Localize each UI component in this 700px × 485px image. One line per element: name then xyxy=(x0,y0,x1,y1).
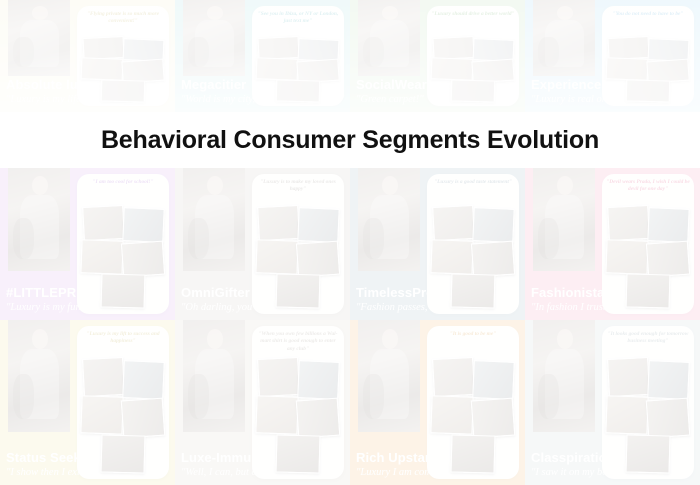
collage-photo xyxy=(257,357,300,397)
segment-panel[interactable]: #LITTLEPRINCE"Luxury is my fun""I am too… xyxy=(0,168,175,320)
segment-quote: "Luxury should drive a better world" xyxy=(431,11,515,18)
portrait-shape xyxy=(13,374,34,419)
portrait-shape xyxy=(557,329,573,349)
collage-photo xyxy=(80,396,124,435)
collage-photo xyxy=(276,79,321,102)
segment-panel[interactable]: Status Seeker"I show then I exist""Luxur… xyxy=(0,320,175,485)
segments-poster: Absolute luxurer"Luxury is my life""Flyi… xyxy=(0,0,700,485)
collage-photo-group xyxy=(81,356,165,475)
segment-quote: "See you in Ibiza, or NY or London, just… xyxy=(256,11,340,26)
collage-photo xyxy=(451,273,496,308)
segment-portrait-photo xyxy=(358,0,420,76)
collage-photo-group xyxy=(431,356,515,475)
segment-collage-card[interactable]: "Devil wears Prada, I wish I could be de… xyxy=(602,174,694,314)
collage-photo xyxy=(296,397,341,438)
portrait-shape xyxy=(32,6,48,20)
portrait-shape xyxy=(382,329,398,349)
portrait-shape xyxy=(13,37,34,67)
collage-photo xyxy=(256,58,299,81)
collage-photo xyxy=(605,396,649,435)
segment-collage-card[interactable]: "Luxury should drive a better world" xyxy=(427,6,519,106)
segment-panel[interactable]: Experiencer"Luxury is real only when sha… xyxy=(525,0,700,112)
collage-photo xyxy=(121,397,166,438)
segment-portrait-photo xyxy=(8,320,70,432)
portrait-shape xyxy=(363,218,384,259)
segment-quote: "When you own few billions a Wal-mart sh… xyxy=(256,331,340,353)
segment-portrait-photo xyxy=(533,168,595,271)
collage-photo xyxy=(101,434,146,473)
collage-photo xyxy=(451,79,496,102)
collage-photo xyxy=(626,273,671,308)
collage-photo xyxy=(276,273,321,308)
collage-photo-group xyxy=(256,204,340,310)
segment-collage-card[interactable]: "Luxury is my lift to success and happin… xyxy=(77,326,169,479)
collage-photo xyxy=(122,360,164,399)
collage-photo xyxy=(122,207,164,243)
collage-photo xyxy=(451,434,496,473)
portrait-shape xyxy=(538,218,559,259)
segment-portrait-photo xyxy=(8,168,70,271)
collage-photo xyxy=(82,357,125,397)
collage-photo xyxy=(81,58,124,81)
segment-portrait-photo xyxy=(183,320,245,432)
segment-portrait-photo xyxy=(533,0,595,76)
portrait-shape xyxy=(363,37,384,67)
collage-photo xyxy=(646,397,691,438)
segment-quote: "Devil wears Prada, I wish I could be de… xyxy=(606,179,690,194)
collage-photo xyxy=(255,396,299,435)
portrait-shape xyxy=(207,329,223,349)
collage-photo xyxy=(80,239,123,274)
segment-panel[interactable]: Megacitier"World is my city, the city is… xyxy=(175,0,350,112)
portrait-shape xyxy=(207,176,223,195)
segment-portrait-photo xyxy=(183,0,245,76)
collage-photo xyxy=(605,239,648,274)
collage-photo xyxy=(473,38,515,62)
segment-quote: "You do not need to have to be" xyxy=(606,11,690,18)
collage-photo xyxy=(606,58,649,81)
segment-collage-card[interactable]: "It looks good enough for tomorrow busin… xyxy=(602,326,694,479)
portrait-shape xyxy=(557,6,573,20)
collage-photo xyxy=(431,58,474,81)
collage-photo xyxy=(472,360,514,399)
collage-photo xyxy=(430,239,473,274)
portrait-shape xyxy=(207,6,223,20)
collage-photo xyxy=(471,241,516,278)
segment-collage-card[interactable]: "When you own few billions a Wal-mart sh… xyxy=(252,326,344,479)
segment-panel[interactable]: Absolute luxurer"Luxury is my life""Flyi… xyxy=(0,0,175,112)
portrait-shape xyxy=(363,374,384,419)
segment-portrait-photo xyxy=(8,0,70,76)
segment-collage-card[interactable]: "Flying private is so much more convenie… xyxy=(77,6,169,106)
collage-photo-group xyxy=(431,36,515,102)
collage-photo xyxy=(647,360,689,399)
segment-row-middle: #LITTLEPRINCE"Luxury is my fun""I am too… xyxy=(0,168,700,320)
portrait-shape xyxy=(188,218,209,259)
collage-photo xyxy=(432,357,475,397)
segment-row-top: Absolute luxurer"Luxury is my life""Flyi… xyxy=(0,0,700,112)
segment-row-bottom: Status Seeker"I show then I exist""Luxur… xyxy=(0,320,700,485)
segment-portrait-photo xyxy=(358,320,420,432)
segment-quote: "It is good to be me" xyxy=(431,331,515,338)
portrait-shape xyxy=(188,374,209,419)
collage-photo xyxy=(607,357,650,397)
collage-photo xyxy=(121,241,166,278)
collage-photo-group xyxy=(606,204,690,310)
portrait-shape xyxy=(32,176,48,195)
segment-quote: "Luxury is my lift to success and happin… xyxy=(81,331,165,346)
collage-photo xyxy=(257,205,299,241)
collage-photo-group xyxy=(431,204,515,310)
portrait-shape xyxy=(188,37,209,67)
portrait-shape xyxy=(382,176,398,195)
segment-panel[interactable]: Rich Upstarter"Luxury I am coming""It is… xyxy=(350,320,525,485)
collage-photo xyxy=(432,205,474,241)
segment-panel[interactable]: SocialWearer"Green carpet!""Luxury shoul… xyxy=(350,0,525,112)
segment-quote: "Luxury is a good taste statement" xyxy=(431,179,515,186)
collage-photo xyxy=(123,38,165,62)
collage-photo xyxy=(276,434,321,473)
collage-photo-group xyxy=(606,36,690,102)
segment-collage-card[interactable]: "You do not need to have to be" xyxy=(602,6,694,106)
segment-quote: "I am too cool for school!" xyxy=(81,179,165,186)
collage-photo-group xyxy=(256,356,340,475)
segment-collage-card[interactable]: "I am too cool for school!" xyxy=(77,174,169,314)
segment-quote: "It looks good enough for tomorrow busin… xyxy=(606,331,690,346)
segment-collage-card[interactable]: "Luxury is a good taste statement" xyxy=(427,174,519,314)
collage-photo xyxy=(471,397,516,438)
collage-photo xyxy=(82,205,124,241)
collage-photo xyxy=(647,207,689,243)
segment-panel[interactable]: Luxe-Immune"Well, I can, but do I want?"… xyxy=(175,320,350,485)
portrait-shape xyxy=(538,37,559,67)
collage-photo-group xyxy=(81,204,165,310)
segment-portrait-photo xyxy=(358,168,420,271)
portrait-shape xyxy=(538,374,559,419)
collage-photo xyxy=(626,434,671,473)
collage-photo xyxy=(648,38,690,62)
collage-photo-group xyxy=(606,356,690,475)
collage-photo xyxy=(472,207,514,243)
segment-portrait-photo xyxy=(183,168,245,271)
collage-photo xyxy=(297,207,339,243)
segment-quote: "Flying private is so much more convenie… xyxy=(81,11,165,26)
collage-photo xyxy=(101,273,146,308)
segment-panel[interactable]: Classpirational"I saw it on my boss""It … xyxy=(525,320,700,485)
portrait-shape xyxy=(557,176,573,195)
portrait-shape xyxy=(382,6,398,20)
segment-quote: "Luxury is to make my loved ones happy" xyxy=(256,179,340,194)
collage-photo xyxy=(298,38,340,62)
portrait-shape xyxy=(13,218,34,259)
segment-collage-card[interactable]: "It is good to be me" xyxy=(427,326,519,479)
collage-photo-group xyxy=(81,36,165,102)
segment-panel[interactable]: TimelessProper"Fashion passes, style rem… xyxy=(350,168,525,320)
collage-photo xyxy=(430,396,474,435)
collage-photo xyxy=(646,241,691,278)
segment-panel[interactable]: Fashionista"In fashion I trust""Devil we… xyxy=(525,168,700,320)
collage-photo xyxy=(626,79,671,102)
segment-collage-card[interactable]: "See you in Ibiza, or NY or London, just… xyxy=(252,6,344,106)
segment-collage-card[interactable]: "Luxury is to make my loved ones happy" xyxy=(252,174,344,314)
collage-photo-group xyxy=(256,36,340,102)
segment-panel[interactable]: OmniGifter"Oh darling, you know I care o… xyxy=(175,168,350,320)
title-band: Behavioral Consumer Segments Evolution xyxy=(0,112,700,168)
collage-photo xyxy=(255,239,298,274)
portrait-shape xyxy=(32,329,48,349)
collage-photo xyxy=(296,241,341,278)
collage-photo xyxy=(607,205,649,241)
collage-photo xyxy=(297,360,339,399)
segment-portrait-photo xyxy=(533,320,595,432)
page-title: Behavioral Consumer Segments Evolution xyxy=(101,126,599,155)
collage-photo xyxy=(101,79,146,102)
